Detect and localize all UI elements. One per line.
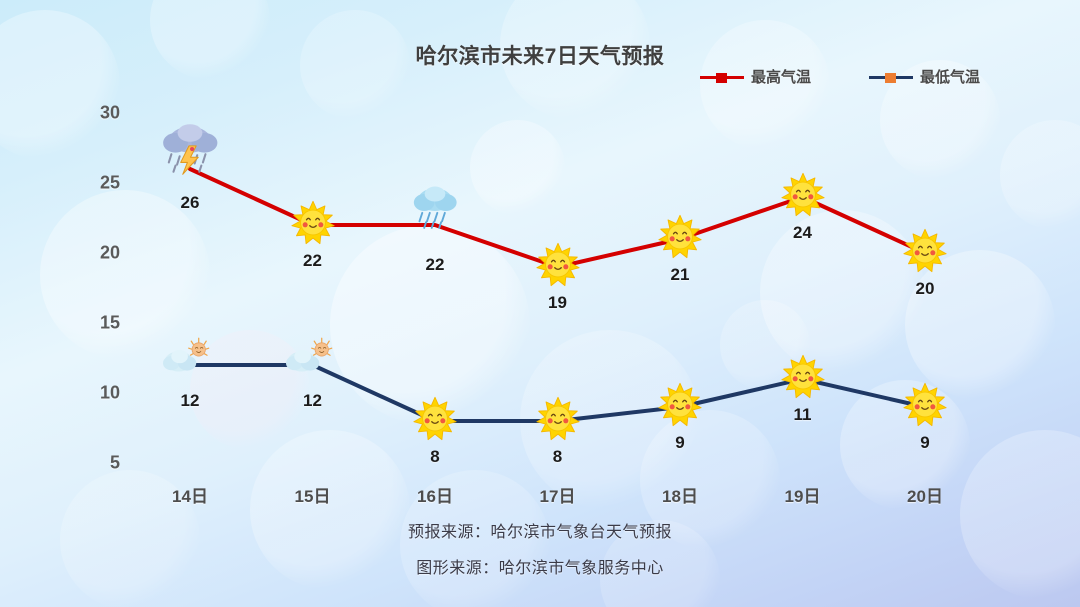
sunny-weather-icon	[290, 200, 336, 251]
sunny-weather-icon	[412, 396, 458, 447]
sunny-weather-icon	[657, 382, 703, 433]
temperature-value: 12	[303, 391, 322, 411]
y-axis-tick: 15	[100, 313, 120, 334]
temperature-value: 22	[303, 251, 322, 271]
x-axis-tick: 18日	[662, 482, 698, 507]
temperature-value: 8	[430, 447, 439, 467]
sunny-weather-icon	[535, 396, 581, 447]
legend-marker-high-icon	[700, 70, 744, 84]
x-axis-tick: 14日	[172, 482, 208, 507]
x-axis-tick: 20日	[907, 482, 943, 507]
legend-label-high: 最高气温	[751, 66, 811, 87]
temperature-value: 21	[671, 265, 690, 285]
weather-forecast-chart: 哈尔滨市未来7日天气预报 最高气温 最低气温 30252015105 14日15…	[0, 0, 1080, 607]
legend-item-high: 最高气温	[700, 66, 811, 87]
temperature-value: 8	[553, 447, 562, 467]
temperature-value: 19	[548, 293, 567, 313]
temperature-value: 24	[793, 223, 812, 243]
sunny-weather-icon	[657, 214, 703, 265]
temperature-value: 20	[916, 279, 935, 299]
x-axis-tick: 16日	[417, 482, 453, 507]
legend: 最高气温 最低气温	[700, 66, 980, 87]
legend-item-low: 最低气温	[869, 66, 980, 87]
series-lines	[0, 0, 1080, 607]
y-axis-tick: 30	[100, 103, 120, 124]
temperature-value: 11	[794, 405, 812, 425]
sunny-weather-icon	[902, 382, 948, 433]
temperature-value: 26	[181, 193, 200, 213]
thunderstorm-weather-icon	[159, 120, 221, 182]
rain-weather-icon	[409, 182, 461, 236]
partly-cloudy-weather-icon	[163, 335, 217, 382]
legend-marker-low-icon	[869, 70, 913, 84]
footer-source-forecast: 预报来源：哈尔滨市气象台天气预报	[0, 518, 1080, 542]
y-axis-tick: 10	[100, 383, 120, 404]
footer-source-graphic: 图形来源：哈尔滨市气象服务中心	[0, 554, 1080, 578]
temperature-value: 9	[675, 433, 684, 453]
x-axis-tick: 17日	[540, 482, 576, 507]
temperature-value: 22	[426, 255, 445, 275]
legend-label-low: 最低气温	[920, 66, 980, 87]
sunny-weather-icon	[780, 354, 826, 405]
y-axis-tick: 5	[110, 453, 120, 474]
temperature-value: 9	[920, 433, 929, 453]
x-axis-tick: 19日	[785, 482, 821, 507]
temperature-value: 12	[181, 391, 200, 411]
partly-cloudy-weather-icon	[286, 335, 340, 382]
sunny-weather-icon	[902, 228, 948, 279]
y-axis-tick: 20	[100, 243, 120, 264]
sunny-weather-icon	[780, 172, 826, 223]
y-axis: 30252015105	[58, 0, 120, 607]
sunny-weather-icon	[535, 242, 581, 293]
x-axis-tick: 15日	[295, 482, 331, 507]
y-axis-tick: 25	[100, 173, 120, 194]
